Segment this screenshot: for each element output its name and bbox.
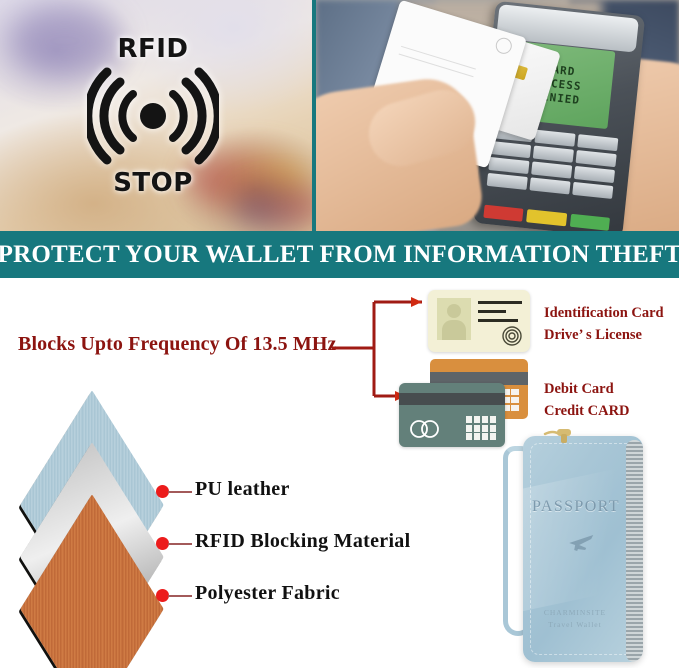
- front-payment-card-graphic: [399, 383, 505, 447]
- id-text-line: [478, 301, 522, 304]
- infographic-page: RFID STOP: [0, 0, 679, 668]
- identification-card-graphic: [428, 290, 530, 352]
- payment-label-line-2: Credit CARD: [544, 400, 630, 422]
- wallet-embossed-subtext: CHARMINSITE Travel Wallet: [523, 607, 627, 633]
- rfid-stop-badge: RFID STOP: [78, 28, 228, 203]
- frequency-statement: Blocks Upto Frequency Of 13.5 MHz: [18, 333, 336, 356]
- id-label-line-1: Identification Card: [544, 302, 664, 324]
- card-reader-photo: CARD ACCESS DENIED: [316, 0, 679, 231]
- terminal-action-keys: [483, 205, 610, 231]
- rfid-stop-photo: RFID STOP: [0, 0, 312, 231]
- rfid-badge-top-label: RFID: [117, 36, 188, 62]
- identification-card-label: Identification Card Drive’ s License: [544, 302, 664, 347]
- id-text-line: [478, 319, 518, 322]
- wallet-zipper-pull: [541, 428, 585, 444]
- wallet-embossed-title: PASSPORT: [523, 498, 629, 516]
- layer-leader-line: [168, 543, 192, 545]
- wallet-brand-line: CHARMINSITE: [523, 607, 627, 620]
- photo-blur-accent: [236, 184, 312, 230]
- sleeve-ring-icon: [494, 36, 514, 56]
- layer-label-polyester: Polyester Fabric: [195, 582, 340, 605]
- id-photo-body: [442, 320, 466, 340]
- id-photo-head: [447, 304, 461, 318]
- layer-label-pu-leather: PU leather: [195, 478, 290, 501]
- layer-label-rfid-blocking: RFID Blocking Material: [195, 530, 410, 553]
- card-grid-detail: [466, 416, 496, 440]
- payment-card-label: Debit Card Credit CARD: [544, 378, 630, 423]
- layer-leader-line: [168, 595, 192, 597]
- airplane-icon: [566, 528, 596, 559]
- card-magnetic-stripe: [399, 393, 505, 405]
- id-label-line-2: Drive’ s License: [544, 324, 664, 346]
- headline-banner: PROTECT YOUR WALLET FROM INFORMATION THE…: [0, 231, 679, 278]
- wallet-zipper-track: [626, 440, 643, 662]
- layer-leader-line: [168, 491, 192, 493]
- headline-text: PROTECT YOUR WALLET FROM INFORMATION THE…: [0, 241, 679, 269]
- terminal-keypad: [487, 125, 619, 199]
- id-photo-placeholder: [437, 298, 471, 340]
- rfid-signal-icon: [87, 64, 219, 168]
- id-text-line: [478, 310, 506, 313]
- passport-wallet: PASSPORT CHARMINSITE Travel Wallet: [523, 436, 643, 662]
- product-photo: PASSPORT CHARMINSITE Travel Wallet: [497, 428, 663, 664]
- card-network-logo-icon: [408, 419, 444, 439]
- wallet-tagline: Travel Wallet: [523, 619, 627, 632]
- id-rfid-chip-icon: [501, 325, 523, 347]
- rfid-badge-bottom-label: STOP: [113, 170, 193, 196]
- payment-label-line-1: Debit Card: [544, 378, 630, 400]
- hero-photo-strip: RFID STOP: [0, 0, 679, 231]
